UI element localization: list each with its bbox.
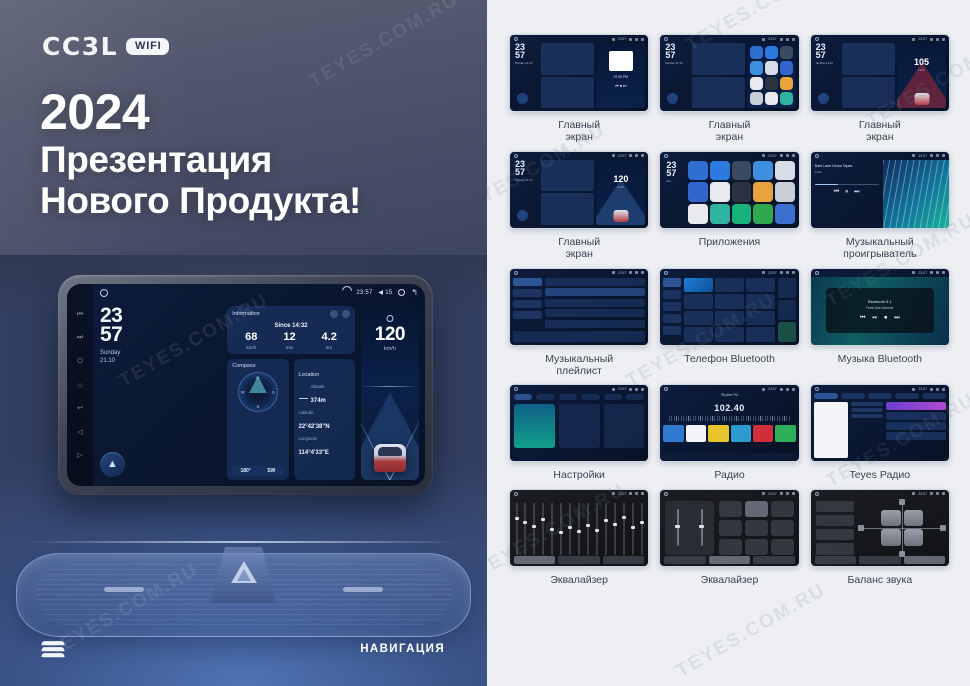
thumb-info-card xyxy=(692,43,745,75)
station-art xyxy=(814,402,848,458)
caption-line: Настройки xyxy=(553,469,605,481)
gear-icon[interactable] xyxy=(398,289,405,296)
gallery-item[interactable]: 23:572357Sunday 21.10Главныйэкран xyxy=(659,34,799,144)
key-0 xyxy=(715,327,744,342)
balance-right-arrow xyxy=(940,525,946,531)
app-icon xyxy=(732,161,752,181)
thumb-status-bar: 23:57 xyxy=(660,385,798,393)
compass-east: E xyxy=(272,390,275,395)
thumb-time: 23:57 xyxy=(918,271,927,275)
station-list xyxy=(886,402,946,458)
phone-nav xyxy=(663,278,680,342)
tr-body xyxy=(814,402,946,458)
play-pause-icon: ⏯ xyxy=(872,315,877,322)
wifi-icon xyxy=(342,290,350,296)
thumbnail-caption: Радио xyxy=(714,469,744,481)
home-icon xyxy=(664,387,668,391)
favorite-icon xyxy=(778,278,795,298)
volume-icon xyxy=(780,154,783,157)
gallery-item[interactable]: 23:57Bluetooth 5.1Feels Like Summer⏮⏯⏹⏭М… xyxy=(810,268,950,378)
next-track-key[interactable]: ⏭ xyxy=(75,334,86,341)
dial-pad xyxy=(684,278,776,342)
tab xyxy=(922,393,946,399)
gear-icon xyxy=(786,154,789,157)
thumb-info-card xyxy=(842,43,895,75)
thumb-speed-value: 105 xyxy=(897,57,946,67)
wifi-icon xyxy=(912,154,915,157)
volume-icon xyxy=(780,388,783,391)
location-longitude: Longitude 114°4'33"E xyxy=(299,436,350,459)
eq-band xyxy=(640,499,643,555)
caption-line: Главный xyxy=(558,236,600,248)
phone-icon xyxy=(663,314,680,323)
volume-icon xyxy=(629,492,632,495)
thumb-time: 23:57 xyxy=(918,37,927,41)
console-slot-left xyxy=(104,587,144,592)
wifi-icon xyxy=(612,154,615,157)
settings-tabs xyxy=(514,394,644,400)
back-arrow-icon[interactable]: ↰ xyxy=(411,289,418,297)
soft-key-rail[interactable]: ⏮ ⏭ ⏻ ⌂ ↩ ◁ ▷ xyxy=(67,284,93,486)
wifi-icon xyxy=(762,492,765,495)
logo-wifi-badge: WIFI xyxy=(126,38,169,55)
gallery-item[interactable]: 23:57Dark Lane Demo TapesDrake⏮⏸⏭Музыкал… xyxy=(810,151,950,261)
car-illustration xyxy=(374,444,406,472)
hero-footer: НАВИГАЦИЯ xyxy=(0,640,487,658)
thumb-speed-unit: km/h xyxy=(596,185,645,189)
screen-thumbnail-apps[interactable]: 23:572357Sun xyxy=(659,151,799,229)
preset xyxy=(771,520,794,536)
trip-speed-unit: km/h xyxy=(245,345,257,350)
key-5 xyxy=(715,294,744,309)
app-icon xyxy=(753,161,773,181)
product-logo: CC3L WIFI xyxy=(42,32,169,61)
information-title: Information xyxy=(232,311,260,317)
watermark: TEYES.COM.RU xyxy=(306,0,463,93)
app-icon xyxy=(775,204,795,224)
clock-column: 23 57 Sunday 21.10 ▲ xyxy=(100,306,221,480)
thumb-cards xyxy=(541,43,594,108)
key-7 xyxy=(684,311,713,326)
eq-band xyxy=(613,499,616,555)
thumb-info-card xyxy=(541,160,594,192)
gallery-item[interactable]: 23:57Эквалайзер xyxy=(659,489,799,586)
thumb-status-bar: 23:57 xyxy=(811,385,949,393)
horizon-line xyxy=(361,386,419,387)
location-title: Location xyxy=(299,372,320,378)
wifi-icon xyxy=(612,492,615,495)
thumb-time: 23:57 xyxy=(918,387,927,391)
watermark: TEYES.COM.RU xyxy=(673,579,830,682)
station-info xyxy=(851,402,883,458)
thumbnail-caption: Настройки xyxy=(553,469,605,481)
caption-line: Главный xyxy=(558,119,600,131)
home-icon xyxy=(815,492,819,496)
thumbnail-caption: Эквалайзер xyxy=(550,574,608,586)
app-icon xyxy=(780,92,793,105)
thumbnail-caption: Эквалайзер xyxy=(701,574,759,586)
bt-label: Bluetooth 5.1 xyxy=(868,299,892,304)
thumb-status-bar: 23:57 xyxy=(510,152,648,160)
station-row xyxy=(886,402,946,410)
head-unit-screen[interactable]: ⏮ ⏭ ⏻ ⌂ ↩ ◁ ▷ 23:57 xyxy=(67,284,425,486)
home-icon xyxy=(815,37,819,41)
thumb-status-bar: 23:57 xyxy=(510,35,648,43)
thumb-settings xyxy=(514,394,644,457)
eq-band xyxy=(551,499,554,555)
screen-thumbnail-music-player[interactable]: 23:57Dark Lane Demo TapesDrake⏮⏸⏭ xyxy=(810,151,950,229)
tab-wifi xyxy=(514,394,532,400)
gallery-item[interactable]: 23:57Телефон Bluetooth xyxy=(659,268,799,378)
key-9 xyxy=(746,311,775,326)
presentation-page: TEYES.COM.RU TEYES.COM.RU TEYES.COM.RU C… xyxy=(0,0,970,686)
radio-scale xyxy=(669,416,789,421)
trip-time-value: 12 xyxy=(283,332,295,343)
volume-icon xyxy=(780,271,783,274)
thumb-balance xyxy=(816,501,944,555)
wifi-icon xyxy=(762,38,765,41)
dialpad-icon xyxy=(663,278,680,287)
app-icon xyxy=(780,46,793,59)
information-buttons[interactable] xyxy=(330,310,350,318)
expand-icon[interactable] xyxy=(342,310,350,318)
volume-icon xyxy=(780,38,783,41)
home-key[interactable]: ⌂ xyxy=(75,382,86,389)
track-row xyxy=(545,278,645,286)
wifi-icon xyxy=(612,38,615,41)
back-icon xyxy=(792,38,795,41)
gear-icon xyxy=(936,388,939,391)
mini-player-bar xyxy=(513,331,645,342)
thumb-speed-unit: km/h xyxy=(897,68,946,72)
key-star xyxy=(684,327,713,342)
screen-thumbnail-settings[interactable]: 23:57 xyxy=(509,384,649,462)
power-key[interactable]: ⏻ xyxy=(75,358,86,365)
thumb-cards xyxy=(692,43,745,108)
thumb-cards xyxy=(842,43,895,108)
tab xyxy=(895,393,919,399)
balance-pad xyxy=(860,501,944,555)
tab-about xyxy=(604,394,622,400)
volume-down-key[interactable]: ◁ xyxy=(75,429,86,436)
more-card xyxy=(604,404,645,448)
thumb-time: 23:57 xyxy=(918,154,927,158)
home-icon[interactable] xyxy=(100,289,108,297)
compass-card[interactable]: Compass N E S W xyxy=(227,359,288,480)
tr-tabs xyxy=(814,393,946,399)
app-icon xyxy=(753,182,773,202)
trip-distance-value: 4.2 xyxy=(322,332,337,343)
back-icon xyxy=(641,271,644,274)
thumb-status-bar: 23:57 xyxy=(510,490,648,498)
recents-icon xyxy=(663,302,680,311)
thumb-time: 23:57 xyxy=(618,154,627,158)
preset xyxy=(663,425,683,442)
settings-icon xyxy=(663,326,680,335)
preset xyxy=(731,425,751,442)
screen-thumbnail-bt-phone[interactable]: 23:57 xyxy=(659,268,799,346)
screen-thumbnail-radio[interactable]: 23:57Rhythm FM102.40 xyxy=(659,384,799,462)
screen-thumbnail-home-speed-red[interactable]: 23:572357Sunday 21.10105km/h xyxy=(810,34,950,112)
wifi-icon xyxy=(912,388,915,391)
thumb-compass-card xyxy=(842,77,895,109)
tab xyxy=(841,393,865,399)
seat xyxy=(881,529,901,546)
thumb-time: 23:57 xyxy=(768,37,777,41)
track-artist: Drake xyxy=(815,170,879,174)
caption-line: Радио xyxy=(714,469,744,481)
prev-track-key[interactable]: ⏮ xyxy=(75,311,86,318)
eq-sliders xyxy=(665,501,714,555)
altitude-value: 374m xyxy=(311,398,326,404)
secondary-widgets: Compass N E S W xyxy=(227,359,355,480)
status-bar: 23:57 ◀15 ↰ xyxy=(93,284,425,301)
gallery-item[interactable]: 23:57Teyes Радио xyxy=(810,384,950,481)
console-glow xyxy=(26,541,461,543)
screen-thumbnail-teyes-radio[interactable]: 23:57 xyxy=(810,384,950,462)
screen-thumbnail-home-speed-blue[interactable]: 23:572357Sunday 21.10120km/h xyxy=(509,151,649,229)
navigation-arrow-icon xyxy=(517,210,528,221)
seat xyxy=(904,529,924,546)
trip-distance-unit: km xyxy=(322,345,337,350)
eq-band xyxy=(622,499,625,555)
preset xyxy=(771,501,794,517)
thumb-radio: Rhythm FM102.40 xyxy=(663,393,795,458)
caption-line: проигрыватель xyxy=(843,248,916,260)
caption-line: экран xyxy=(565,131,592,143)
bt-card: Bluetooth 5.1Feels Like Summer⏮⏯⏹⏭ xyxy=(826,288,934,333)
eq-toolbar xyxy=(815,556,945,564)
latitude-value: 22°42'38"N xyxy=(299,424,330,430)
gear-icon xyxy=(635,38,638,41)
caption-line: Главный xyxy=(859,119,901,131)
thumb-time: 23:57 xyxy=(618,492,627,496)
tab-eq xyxy=(664,556,705,564)
home-icon xyxy=(815,154,819,158)
radio-frequency: 102.40 xyxy=(663,403,795,413)
thumbnail-caption: Музыка Bluetooth xyxy=(838,353,922,365)
headline-line-1: Презентация xyxy=(40,139,361,180)
volume-indicator: ◀15 xyxy=(378,289,392,296)
clock-weekday: Sunday xyxy=(100,350,221,358)
volume-icon xyxy=(780,492,783,495)
thumbnail-grid: 23:572357Sunday 21.1007:50 PM⏮ ⏹ ⏭Главны… xyxy=(509,34,950,586)
app-icon xyxy=(732,182,752,202)
screen-thumbnail-bt-music[interactable]: 23:57Bluetooth 5.1Feels Like Summer⏮⏯⏹⏭ xyxy=(810,268,950,346)
longitude-label: Longitude xyxy=(299,436,350,441)
logo-model-text: CC3L xyxy=(42,32,118,61)
tab-fader xyxy=(753,556,794,564)
home-icon xyxy=(514,271,518,275)
tab xyxy=(868,393,892,399)
thumb-clock: 2357Sun xyxy=(664,161,685,224)
info-column: Information Since 14:32 xyxy=(227,306,355,480)
nav-item xyxy=(513,289,542,297)
key-4 xyxy=(684,294,713,309)
thumb-status-bar: 23:57 xyxy=(660,490,798,498)
screen-thumbnail-eq-presets[interactable]: 23:57 xyxy=(659,489,799,567)
gallery-item[interactable]: 23:572357Sunday 21.1007:50 PM⏮ ⏹ ⏭Главны… xyxy=(509,34,649,144)
tab-preset xyxy=(709,556,750,564)
gear-icon xyxy=(936,38,939,41)
key-8 xyxy=(715,311,744,326)
gear-icon xyxy=(936,492,939,495)
thumb-right-pane xyxy=(747,43,796,108)
thumbnail-caption: Приложения xyxy=(699,236,760,248)
gallery-item[interactable]: 23:572357Sunday 21.10105km/hГлавныйэкран xyxy=(810,34,950,144)
gear-icon xyxy=(635,271,638,274)
location-card[interactable]: Location Altitude 374m xyxy=(294,359,355,480)
latitude-label: Latitude xyxy=(299,410,350,415)
app-icon xyxy=(750,77,763,90)
screen-thumbnail-home-apps[interactable]: 23:572357Sunday 21.10 xyxy=(659,34,799,112)
gear-icon xyxy=(786,38,789,41)
transfer-icon xyxy=(778,300,795,320)
navigation-arrow-icon[interactable]: ▲ xyxy=(100,452,125,477)
thumb-time: 23:57 xyxy=(618,37,627,41)
home-icon xyxy=(815,387,819,391)
thumb-bt-phone xyxy=(663,278,795,342)
eq-band xyxy=(524,499,527,555)
app-icon xyxy=(688,182,708,202)
gallery-item[interactable]: 23:57Rhythm FM102.40Радио xyxy=(659,384,799,481)
progress-bar xyxy=(815,184,879,185)
back-icon xyxy=(792,388,795,391)
eq-band xyxy=(515,499,518,555)
navigation-arrow-icon xyxy=(517,93,528,104)
home-icon xyxy=(664,271,668,275)
thumb-info-card xyxy=(541,43,594,75)
wifi-icon xyxy=(912,492,915,495)
nav-item xyxy=(513,300,542,308)
caption-line: плейлист xyxy=(556,365,602,377)
volume-icon xyxy=(930,388,933,391)
radio-band: Rhythm FM xyxy=(663,393,795,397)
app-icon xyxy=(780,61,793,74)
gallery-item[interactable]: 23:572357Sunday 21.10120km/hГлавныйэкран xyxy=(509,151,649,261)
app-icon xyxy=(750,61,763,74)
volume-icon xyxy=(930,154,933,157)
thumb-time: 23:57 xyxy=(618,387,627,391)
screen-thumbnail-eq-bands[interactable]: 23:57 xyxy=(509,489,649,567)
preset xyxy=(745,520,768,536)
gallery-item[interactable]: 23:57Баланс звука xyxy=(810,489,950,586)
thumb-cards xyxy=(541,160,594,225)
balance-up-arrow xyxy=(899,499,905,505)
thumb-status-bar: 23:57 xyxy=(660,152,798,160)
track-title: Dark Lane Demo Tapes xyxy=(815,164,879,168)
tab-more xyxy=(626,394,644,400)
wifi-icon xyxy=(762,154,765,157)
speed-widget[interactable]: 120 km/h xyxy=(361,306,419,480)
thumbnail-caption: Музыкальныйпроигрыватель xyxy=(843,236,916,261)
gear-icon xyxy=(635,492,638,495)
caption-line: Музыкальный xyxy=(545,353,613,365)
media-controls: ⏮ ⏹ ⏭ xyxy=(596,83,645,88)
gear-icon xyxy=(786,388,789,391)
eq-band xyxy=(542,499,545,555)
home-icon xyxy=(664,492,668,496)
volume-icon xyxy=(629,154,632,157)
home-icon xyxy=(514,37,518,41)
screen-thumbnail-balance[interactable]: 23:57 xyxy=(810,489,950,567)
preset-grid xyxy=(719,501,794,555)
clock-minutes: 57 xyxy=(100,325,221,344)
app-grid xyxy=(688,161,794,224)
gallery-item[interactable]: 23:57Настройки xyxy=(509,384,649,481)
gallery-item[interactable]: 23:572357SunПриложения xyxy=(659,151,799,261)
app-icon xyxy=(780,77,793,90)
thumbnail-caption: Teyes Радио xyxy=(849,469,910,481)
volume-icon xyxy=(930,492,933,495)
seat xyxy=(881,510,901,527)
compass-west: W xyxy=(241,390,245,395)
wifi-icon xyxy=(912,38,915,41)
key-2 xyxy=(715,278,744,293)
caption-line: Телефон Bluetooth xyxy=(684,353,775,365)
app-icon xyxy=(765,77,778,90)
prev-icon: ⏮ xyxy=(834,189,839,196)
home-icon xyxy=(815,271,819,275)
thumbnail-caption: Телефон Bluetooth xyxy=(684,353,775,365)
thumb-home-layout: 2357Sunday 21.1007:50 PM⏮ ⏹ ⏭ xyxy=(513,43,645,108)
volume-up-key[interactable]: ▷ xyxy=(75,452,86,459)
volume-icon xyxy=(629,388,632,391)
thumb-home-layout: 2357Sunday 21.10120km/h xyxy=(513,160,645,225)
back-icon xyxy=(792,154,795,157)
key-3 xyxy=(746,278,775,293)
thumb-status-bar: 23:57 xyxy=(660,269,798,277)
longitude-value: 114°4'33"E xyxy=(299,450,329,456)
key-1 xyxy=(684,278,713,293)
back-icon xyxy=(641,388,644,391)
clock-date: 21.10 xyxy=(100,358,221,366)
tab-preset xyxy=(558,556,599,564)
speed-unit: km/h xyxy=(361,346,419,352)
screen-thumbnail-home-music[interactable]: 23:572357Sunday 21.1007:50 PM⏮ ⏹ ⏭ xyxy=(509,34,649,112)
information-card[interactable]: Information Since 14:32 xyxy=(227,306,355,354)
screen-thumbnail-playlist[interactable]: 23:57 xyxy=(509,268,649,346)
back-key[interactable]: ↩ xyxy=(75,405,86,412)
compass-heading: 180° xyxy=(240,468,250,474)
gallery-item[interactable]: 23:57Музыкальныйплейлист xyxy=(509,268,649,378)
caption-line: Приложения xyxy=(699,236,760,248)
next-icon: ⏭ xyxy=(854,189,859,196)
thumbnail-caption: Главныйэкран xyxy=(709,119,751,144)
media-controls: ⏮⏯⏹⏭ xyxy=(860,315,900,322)
gallery-item[interactable]: 23:57Эквалайзер xyxy=(509,489,649,586)
app-icon xyxy=(710,182,730,202)
pause-icon: ⏸ xyxy=(845,189,848,196)
eq-band xyxy=(560,499,563,555)
thumbnail-caption: Главныйэкран xyxy=(558,119,600,144)
trip-stat: 68 km/h xyxy=(245,332,257,350)
seat xyxy=(904,510,924,527)
mountain-icon xyxy=(299,393,308,399)
app-icon xyxy=(765,92,778,105)
refresh-icon[interactable] xyxy=(330,310,338,318)
car-illustration xyxy=(914,93,929,105)
next-icon: ⏭ xyxy=(894,315,899,322)
back-icon xyxy=(641,154,644,157)
track-row xyxy=(545,288,645,296)
trip-since-label: Since 14:32 xyxy=(232,323,350,329)
thumb-status-bar: 23:57 xyxy=(811,152,949,160)
compass-south: S xyxy=(257,404,260,409)
back-icon xyxy=(641,492,644,495)
thumb-time: 23:57 xyxy=(618,271,627,275)
eq-band xyxy=(569,499,572,555)
